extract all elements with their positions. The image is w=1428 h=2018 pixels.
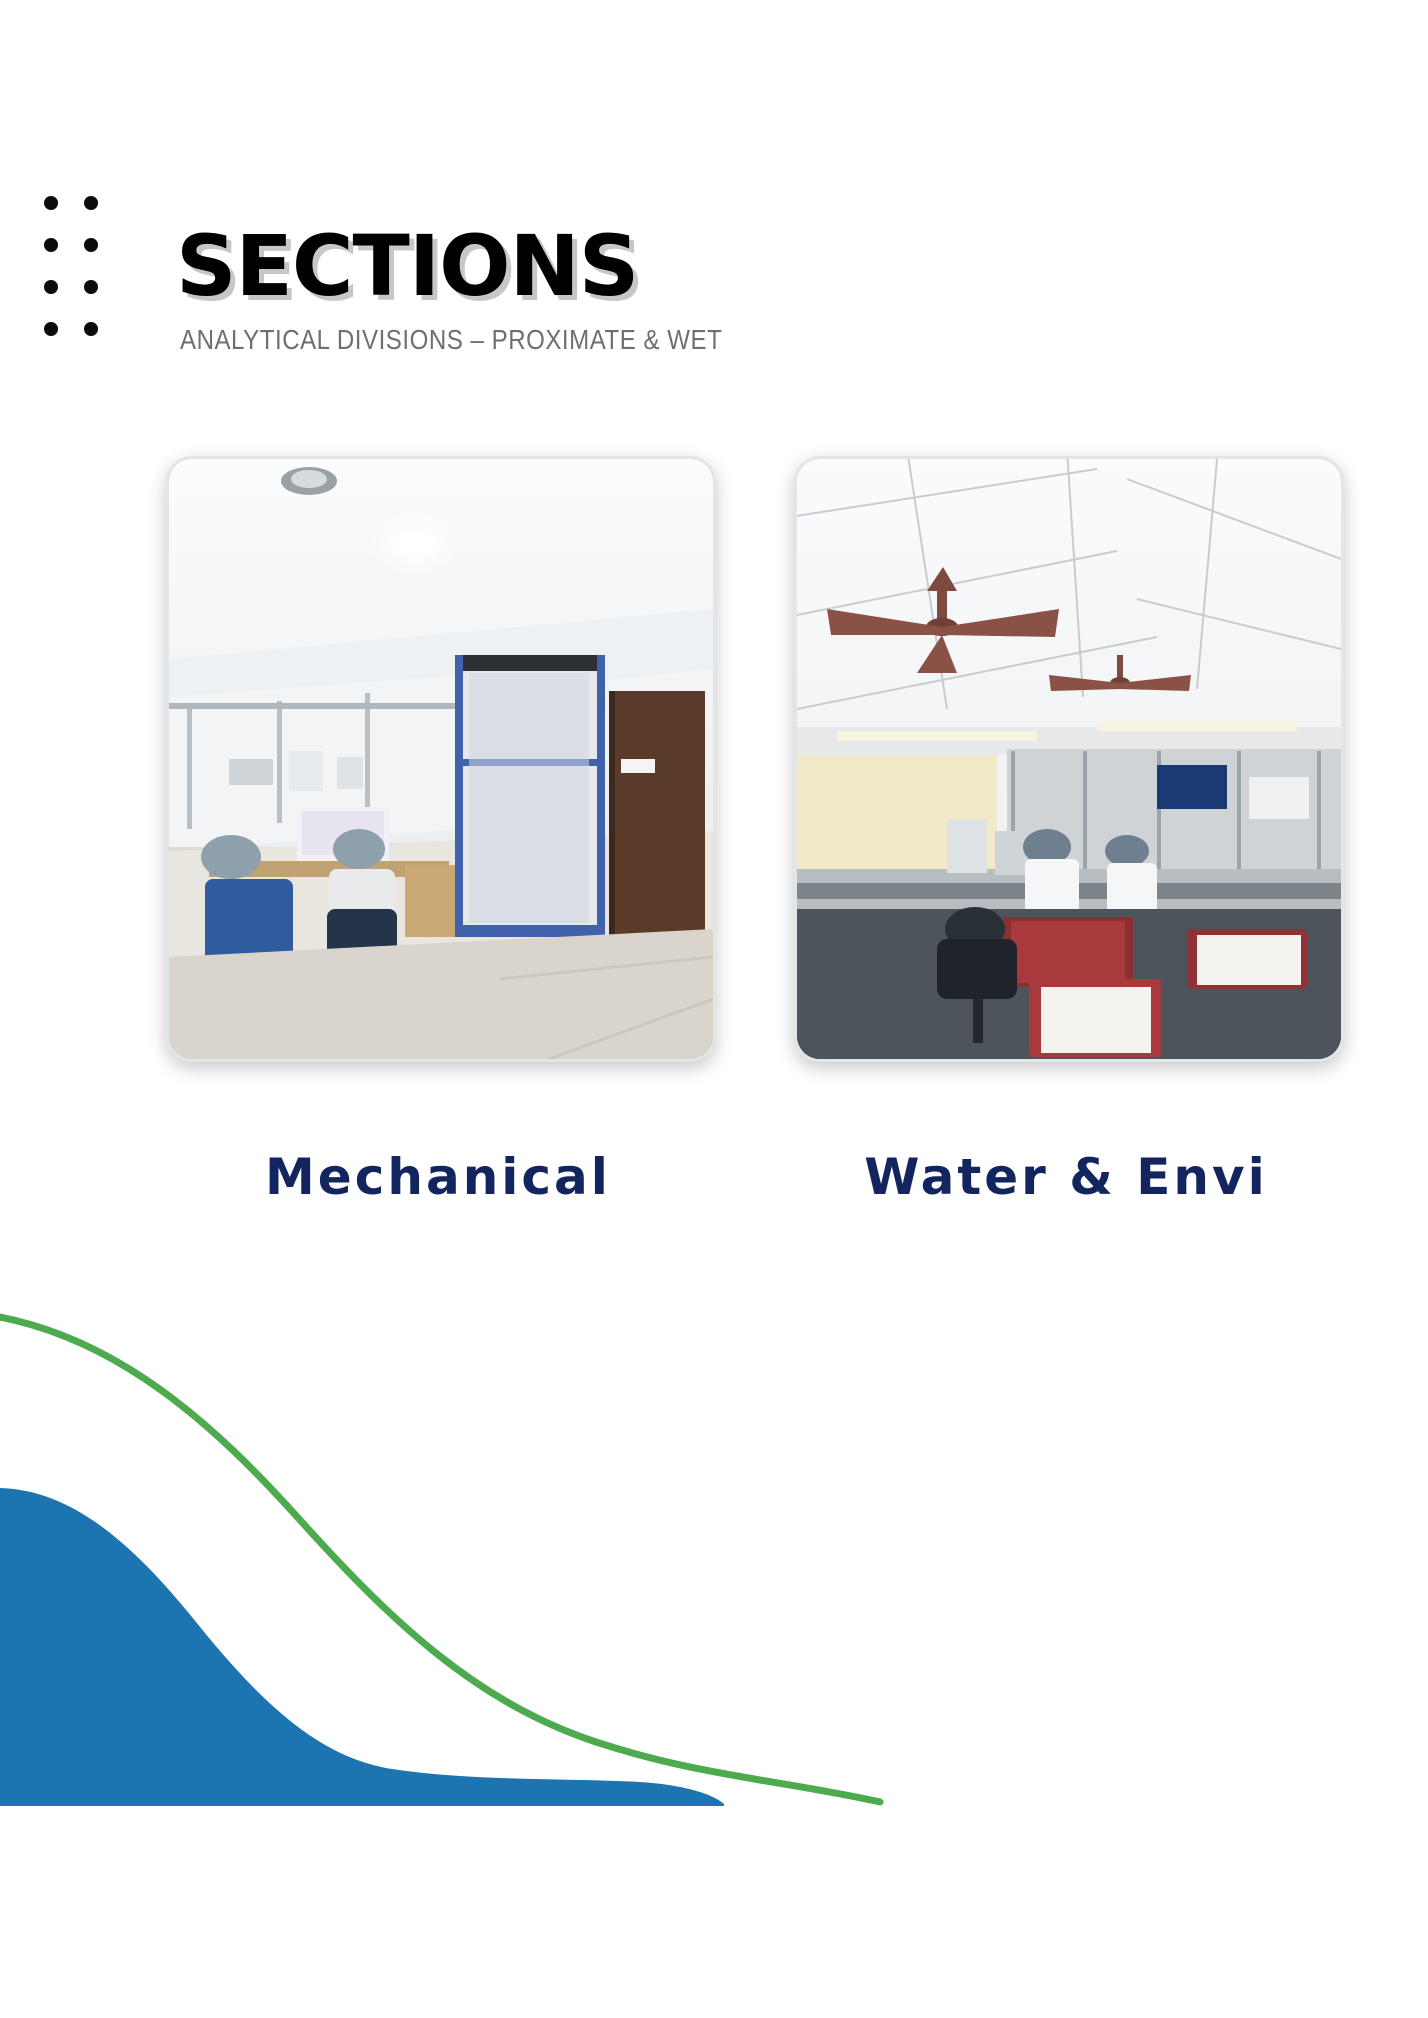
dot-icon [84,196,98,210]
page-title: SECTIONS [176,224,811,308]
dot-icon [44,280,58,294]
section-card-label: Water & Envi [794,1148,1338,1206]
sections-card-row: Mechanical [166,456,1338,1206]
section-card-label: Mechanical [166,1148,710,1206]
dot-icon [44,196,58,210]
dot-icon [84,280,98,294]
slide-header: SECTIONS ANALYTICAL DIVISIONS – PROXIMAT… [176,224,811,356]
wave-green-line [0,1316,880,1802]
dot-grid-decoration [44,196,124,364]
mechanical-lab-photo [166,456,716,1062]
section-card-mechanical[interactable]: Mechanical [166,456,710,1206]
water-environment-lab-photo [794,456,1344,1062]
dot-icon [84,322,98,336]
dot-icon [44,322,58,336]
page-subtitle: ANALYTICAL DIVISIONS – PROXIMATE & WET [180,324,722,356]
dot-icon [44,238,58,252]
dot-icon [84,238,98,252]
section-card-water-environment[interactable]: Water & Envi [794,456,1338,1206]
wave-blue-shape [0,1488,724,1806]
